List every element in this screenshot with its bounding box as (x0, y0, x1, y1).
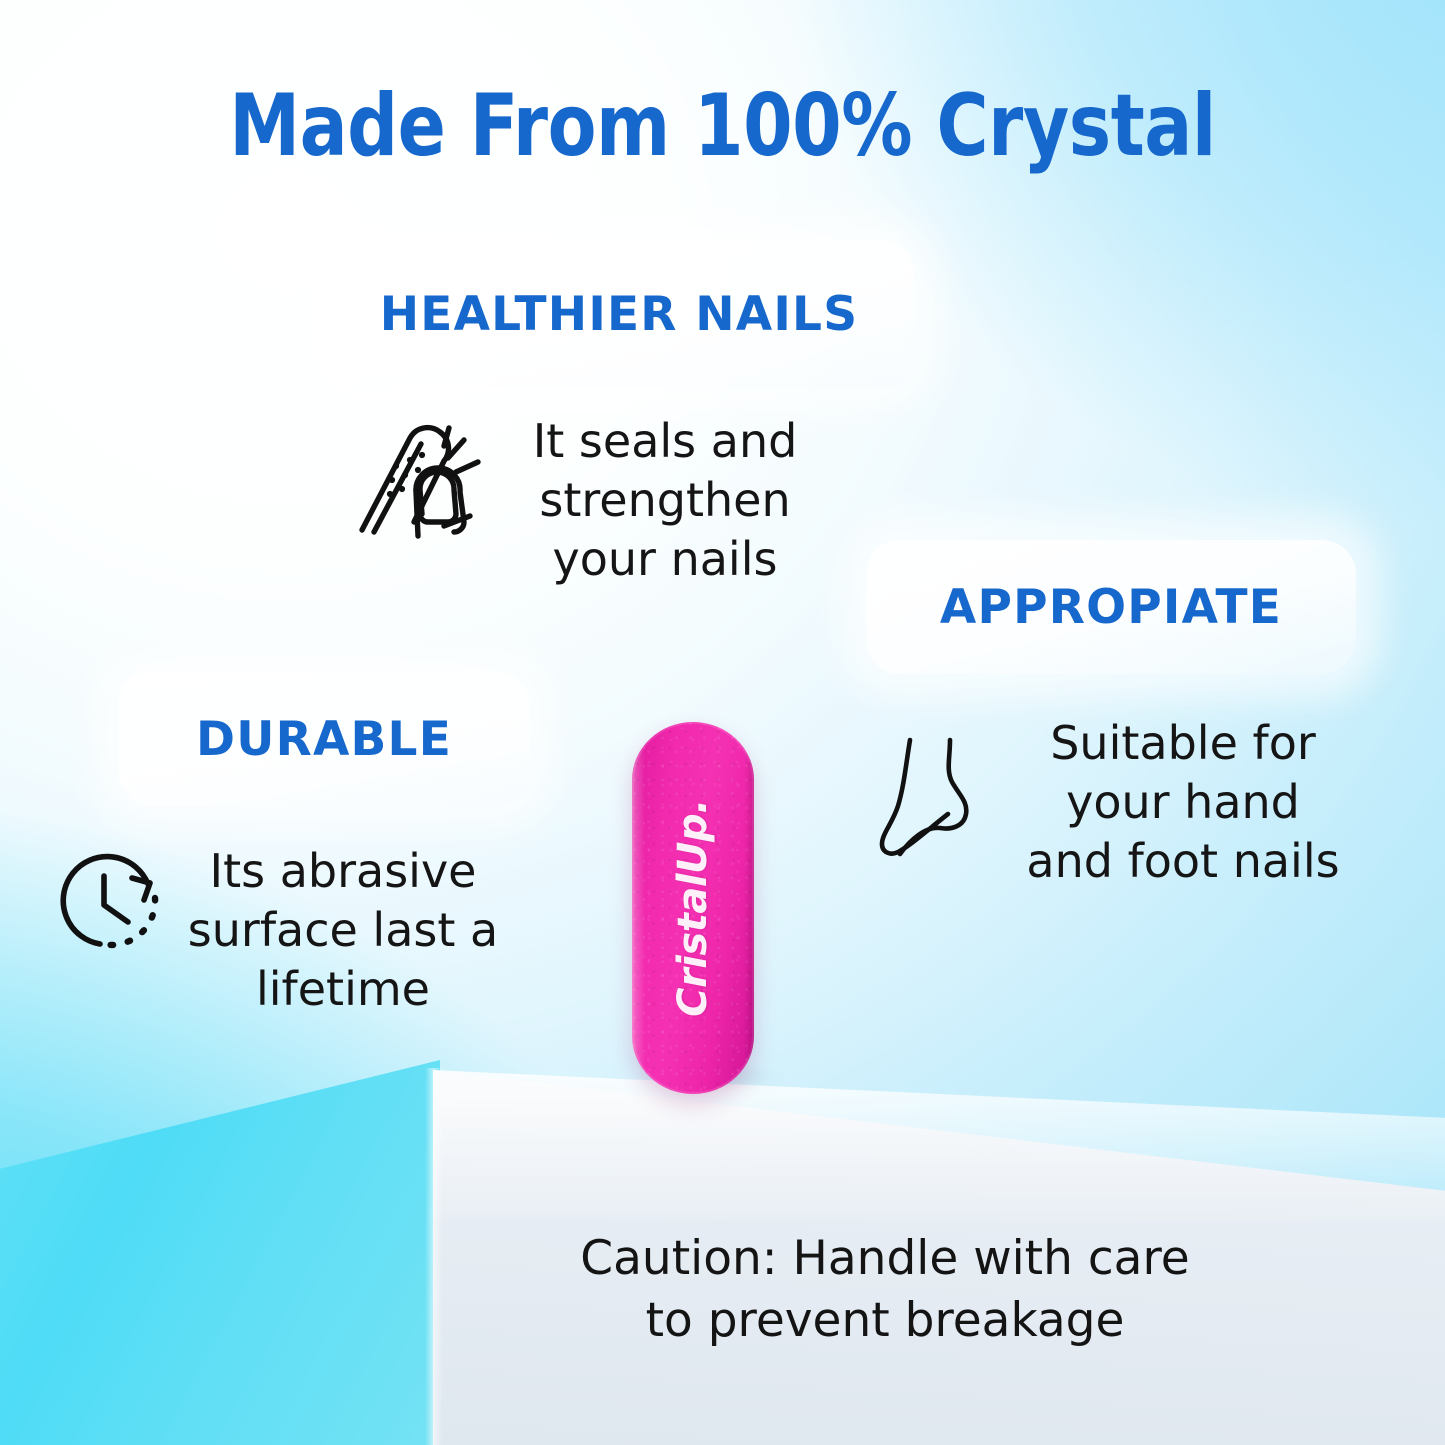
product-left-highlight (632, 722, 645, 1094)
pedestal-left-face (0, 1060, 440, 1445)
caution-line-1: Caution: Handle with care (470, 1228, 1300, 1290)
pedestal-highlight (433, 1070, 1445, 1220)
product-infographic: Made From 100% Crystal HEALTHIER NAILS A… (0, 0, 1445, 1445)
clock-arrow-icon (60, 850, 164, 954)
feature-durable: Its abrasive surface last a lifetime (60, 842, 530, 1019)
badge-healthier-nails: HEALTHIER NAILS (324, 240, 914, 388)
page-title-part-one: Made From (229, 76, 694, 176)
feature-healthier-nails: It seals and strengthen your nails (352, 412, 822, 589)
badge-durable: DURABLE (118, 672, 530, 806)
caution-note: Caution: Handle with care to prevent bre… (470, 1228, 1300, 1352)
badge-appropiate: APPROPIATE (866, 540, 1356, 674)
product-right-shade (744, 722, 754, 1094)
pedestal-corner-edge (425, 1068, 443, 1445)
product-brand-logo: CristalUp. (670, 799, 716, 1017)
feature-healthier-nails-text: It seals and strengthen your nails (510, 412, 820, 589)
feature-appropiate: Suitable for your hand and foot nails (876, 714, 1346, 891)
feature-appropiate-text: Suitable for your hand and foot nails (1020, 714, 1346, 891)
page-title-part-two: 100% Crystal (694, 76, 1216, 176)
feature-durable-text: Its abrasive surface last a lifetime (184, 842, 502, 1019)
product-nail-file: CristalUp. (632, 722, 754, 1094)
product-nail-file-body: CristalUp. (632, 722, 754, 1094)
foot-icon (876, 728, 996, 864)
page-title: Made From 100% Crystal (58, 82, 1387, 171)
nail-file-sparkle-icon (352, 418, 484, 540)
caution-line-2: to prevent breakage (470, 1290, 1300, 1352)
